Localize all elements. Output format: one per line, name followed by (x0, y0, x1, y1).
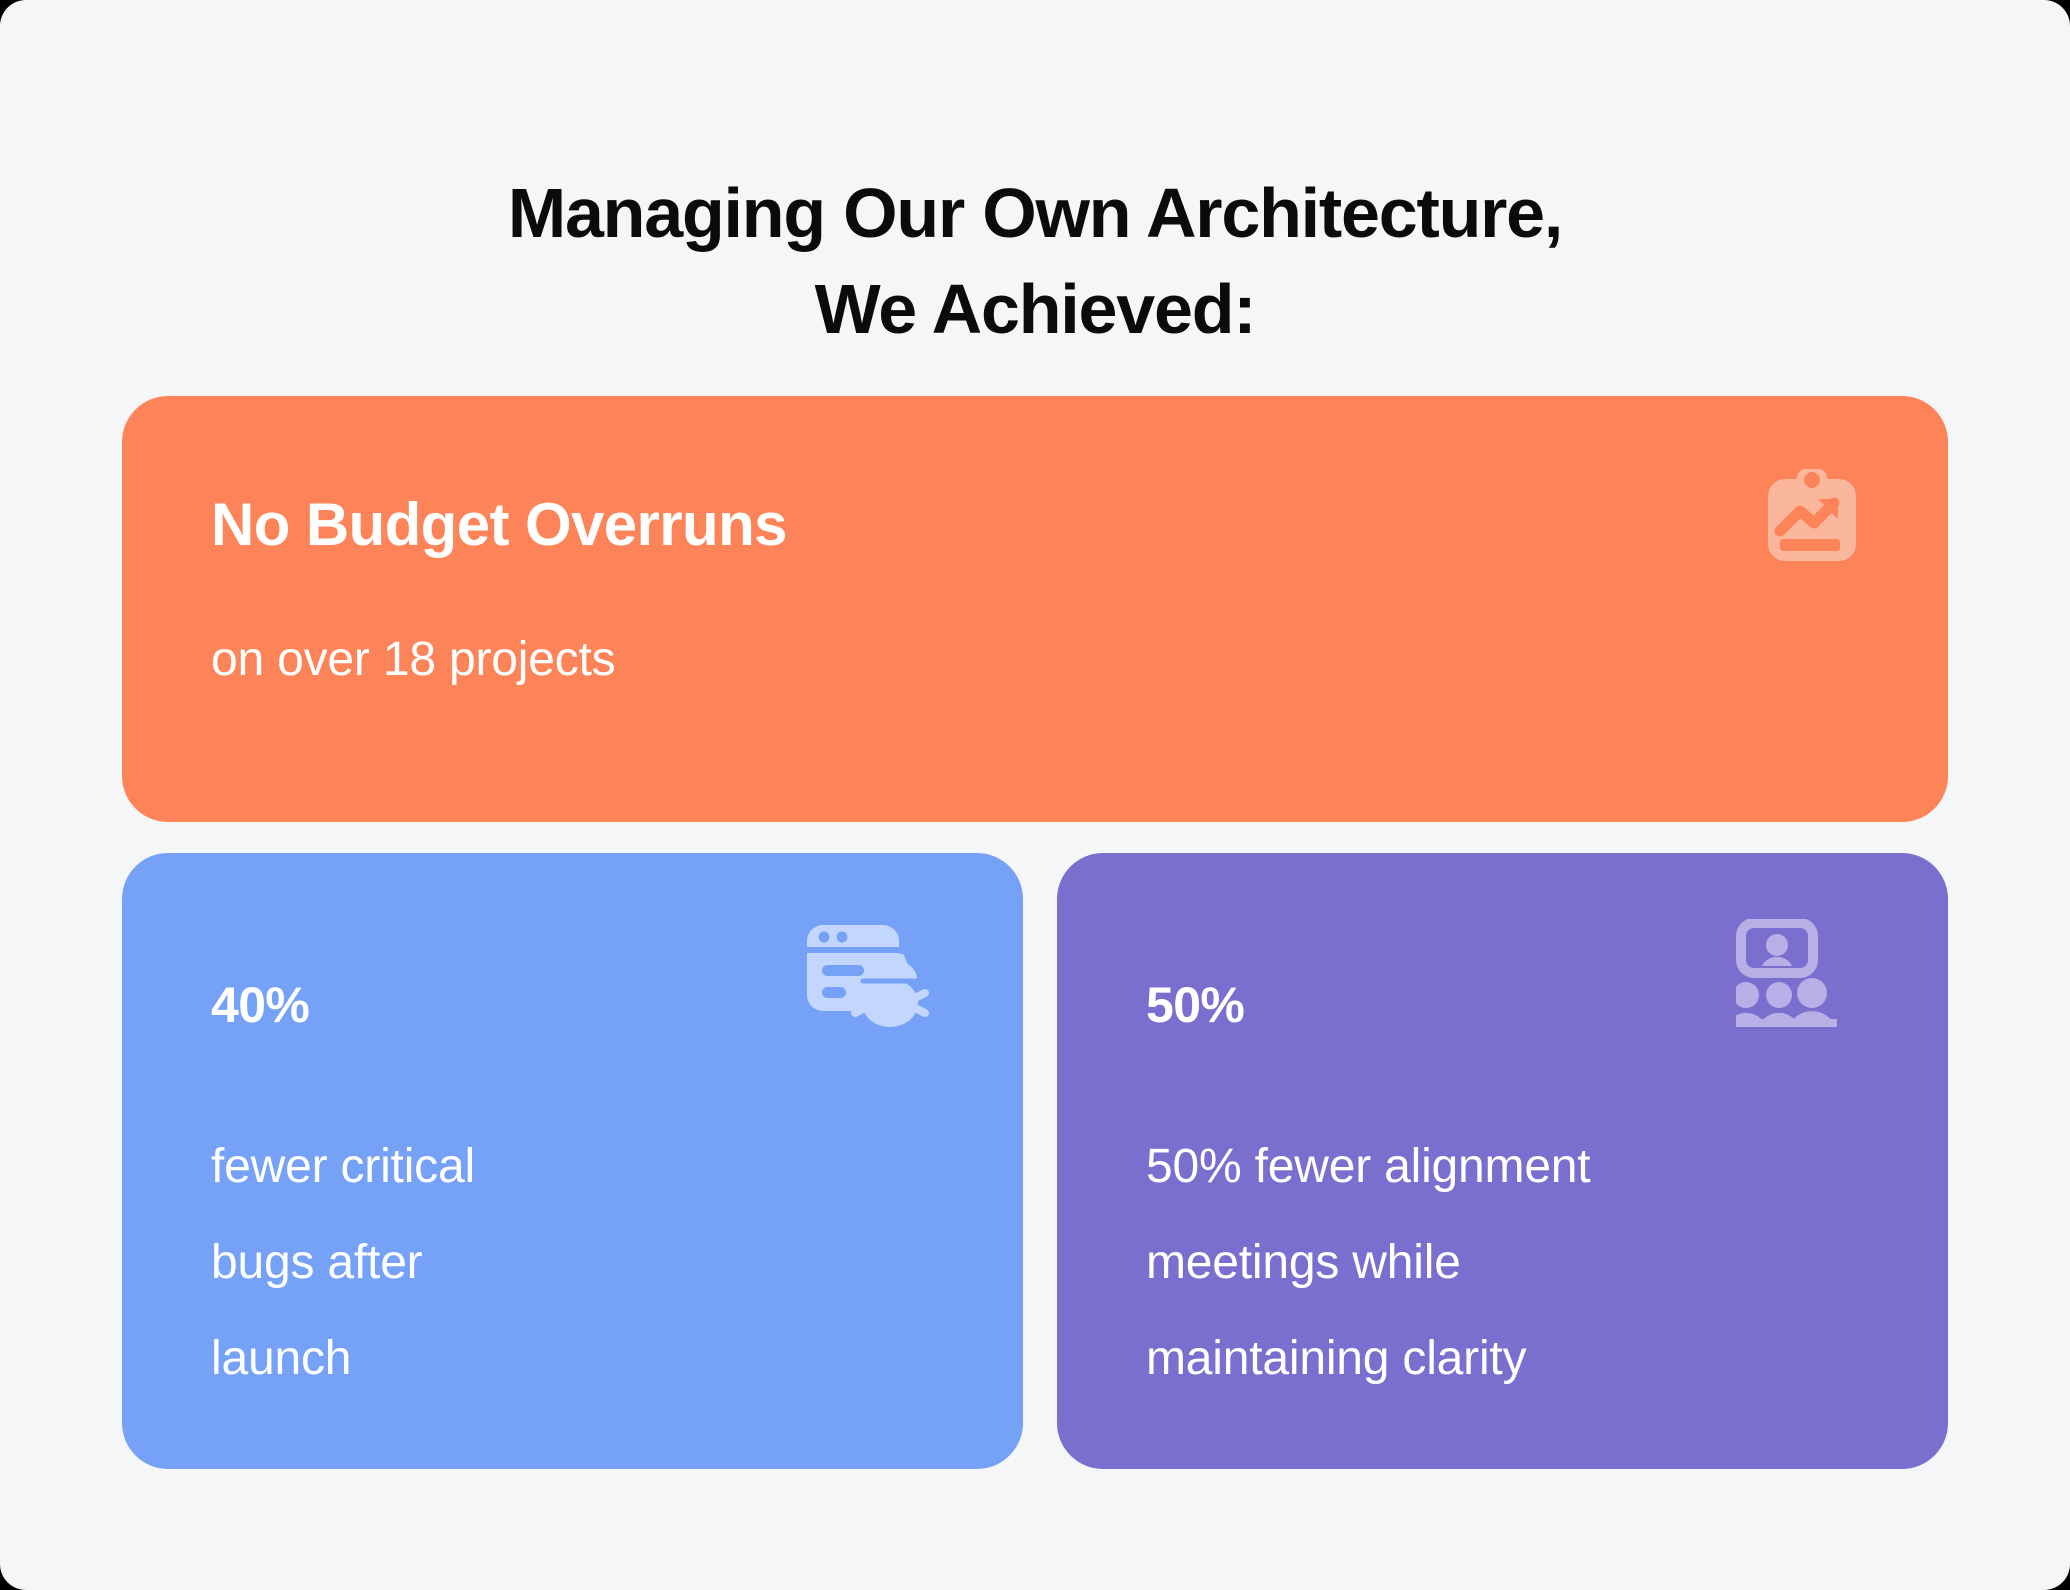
stat-card-no-budget-overruns[interactable]: No Budget Overruns on over 18 projects (122, 396, 1948, 822)
stat-card-heading: 40% (211, 975, 309, 1035)
stat-card-body: fewer critical bugs after launch (211, 1119, 971, 1407)
stat-card-body: on over 18 projects (211, 630, 615, 690)
clipboard-chart-icon (1764, 469, 1860, 565)
page-title: Managing Our Own Architecture, We Achiev… (0, 165, 2070, 357)
stat-card-fewer-alignment-meetings[interactable]: 50% 50% fewer alignment meetings while m… (1057, 853, 1948, 1469)
browser-bug-icon (805, 921, 941, 1033)
stat-card-heading: No Budget Overruns (211, 490, 787, 560)
stat-card-body: 50% fewer alignment meetings while maint… (1146, 1119, 1906, 1407)
stat-card-fewer-critical-bugs[interactable]: 40% fewer critical bugs after launch (122, 853, 1023, 1469)
stat-card-heading: 50% (1146, 975, 1244, 1035)
slide-canvas: Managing Our Own Architecture, We Achiev… (0, 0, 2070, 1590)
video-conference-audience-icon (1736, 919, 1866, 1035)
